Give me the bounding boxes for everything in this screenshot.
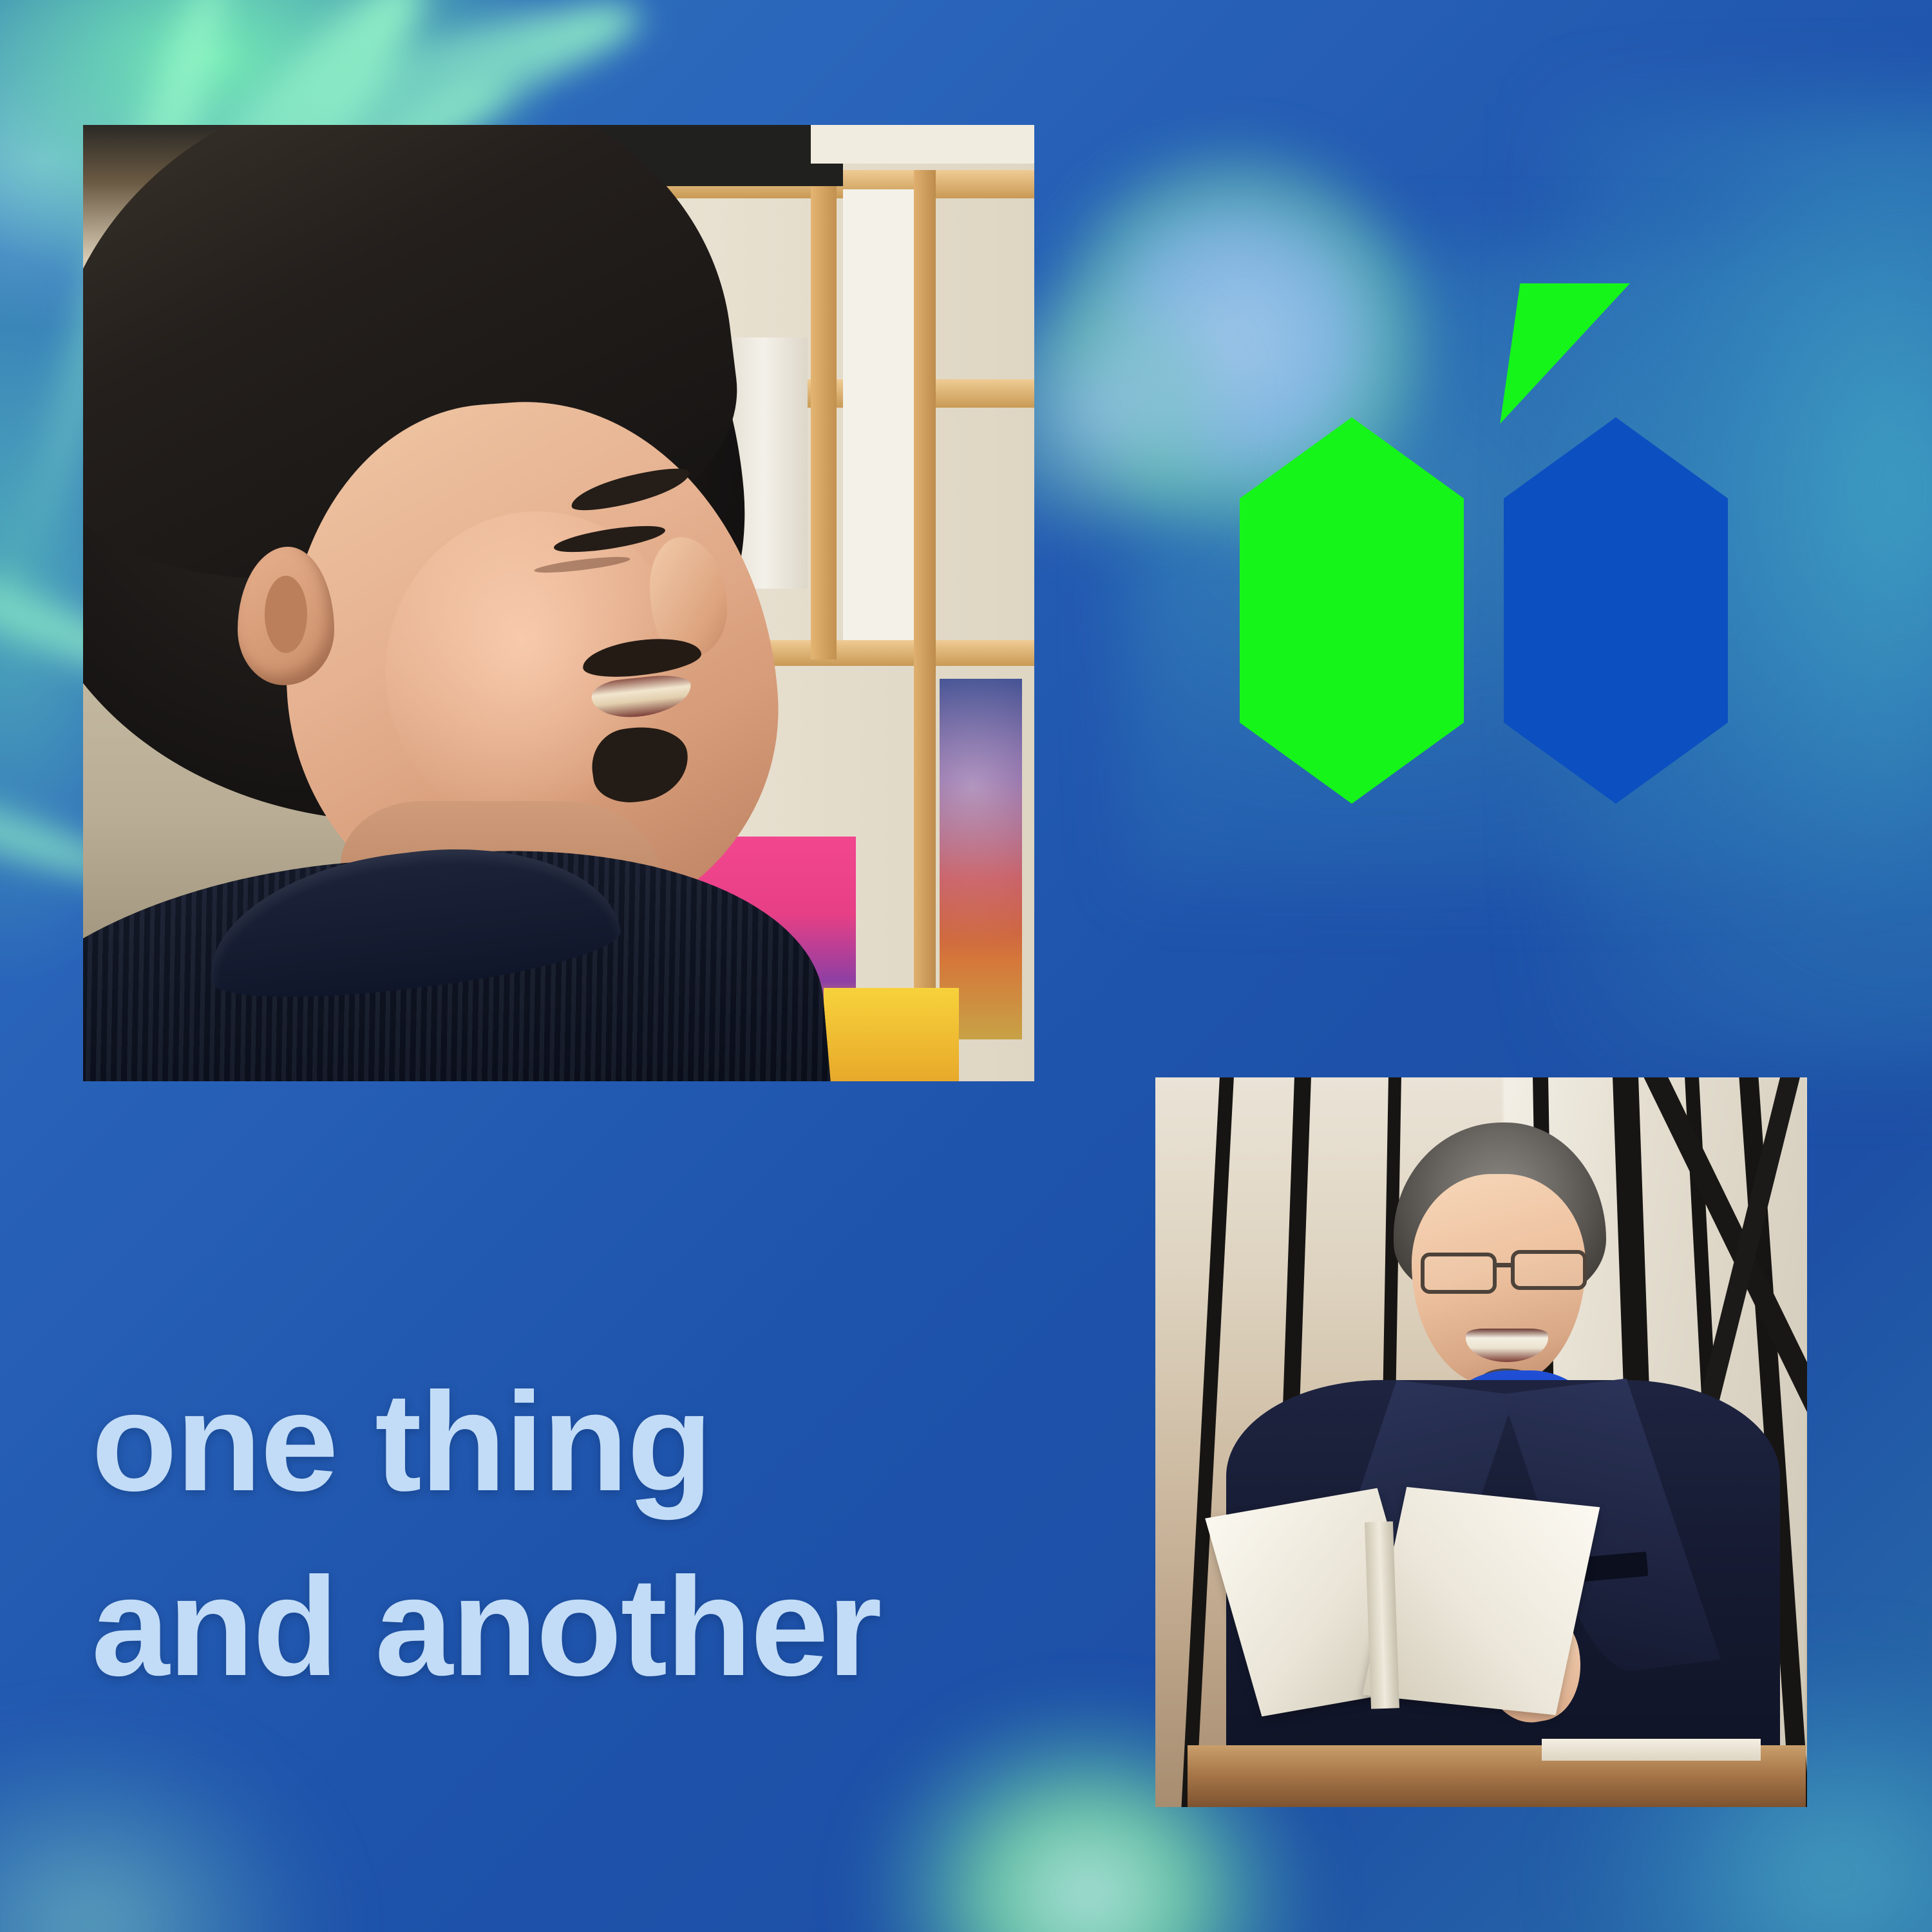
poster-canvas: one thing and another — [0, 0, 1932, 1932]
eyeglasses-bridge — [1495, 1263, 1513, 1267]
brand-logo[interactable] — [1240, 277, 1742, 811]
hexagon-green-icon — [1240, 417, 1464, 804]
shelf-divider — [811, 170, 837, 659]
photo-reading-content — [1155, 1077, 1807, 1807]
photo-reading[interactable] — [1155, 1077, 1807, 1807]
photo-interview[interactable] — [83, 125, 1034, 1081]
desk-paper — [1542, 1739, 1761, 1761]
subject-ear-inner — [265, 576, 307, 653]
shelf-poster-yellow — [824, 988, 959, 1081]
ceiling-light — [811, 125, 1034, 164]
headline-line-2: and another — [91, 1555, 1057, 1700]
shelf-backpanel — [843, 189, 914, 640]
eyeglasses-lens-left — [1421, 1253, 1497, 1294]
hexagon-blue-icon — [1504, 417, 1728, 804]
shelf-artwork-highlight — [940, 679, 1022, 1039]
page-title: one thing and another — [91, 1370, 1057, 1700]
shelf-divider — [914, 170, 936, 1081]
eyeglasses-lens-right — [1511, 1250, 1587, 1290]
headline-line-1: one thing — [91, 1370, 1057, 1515]
accent-tick-icon — [1496, 283, 1630, 424]
photo-interview-content — [83, 125, 1034, 1081]
